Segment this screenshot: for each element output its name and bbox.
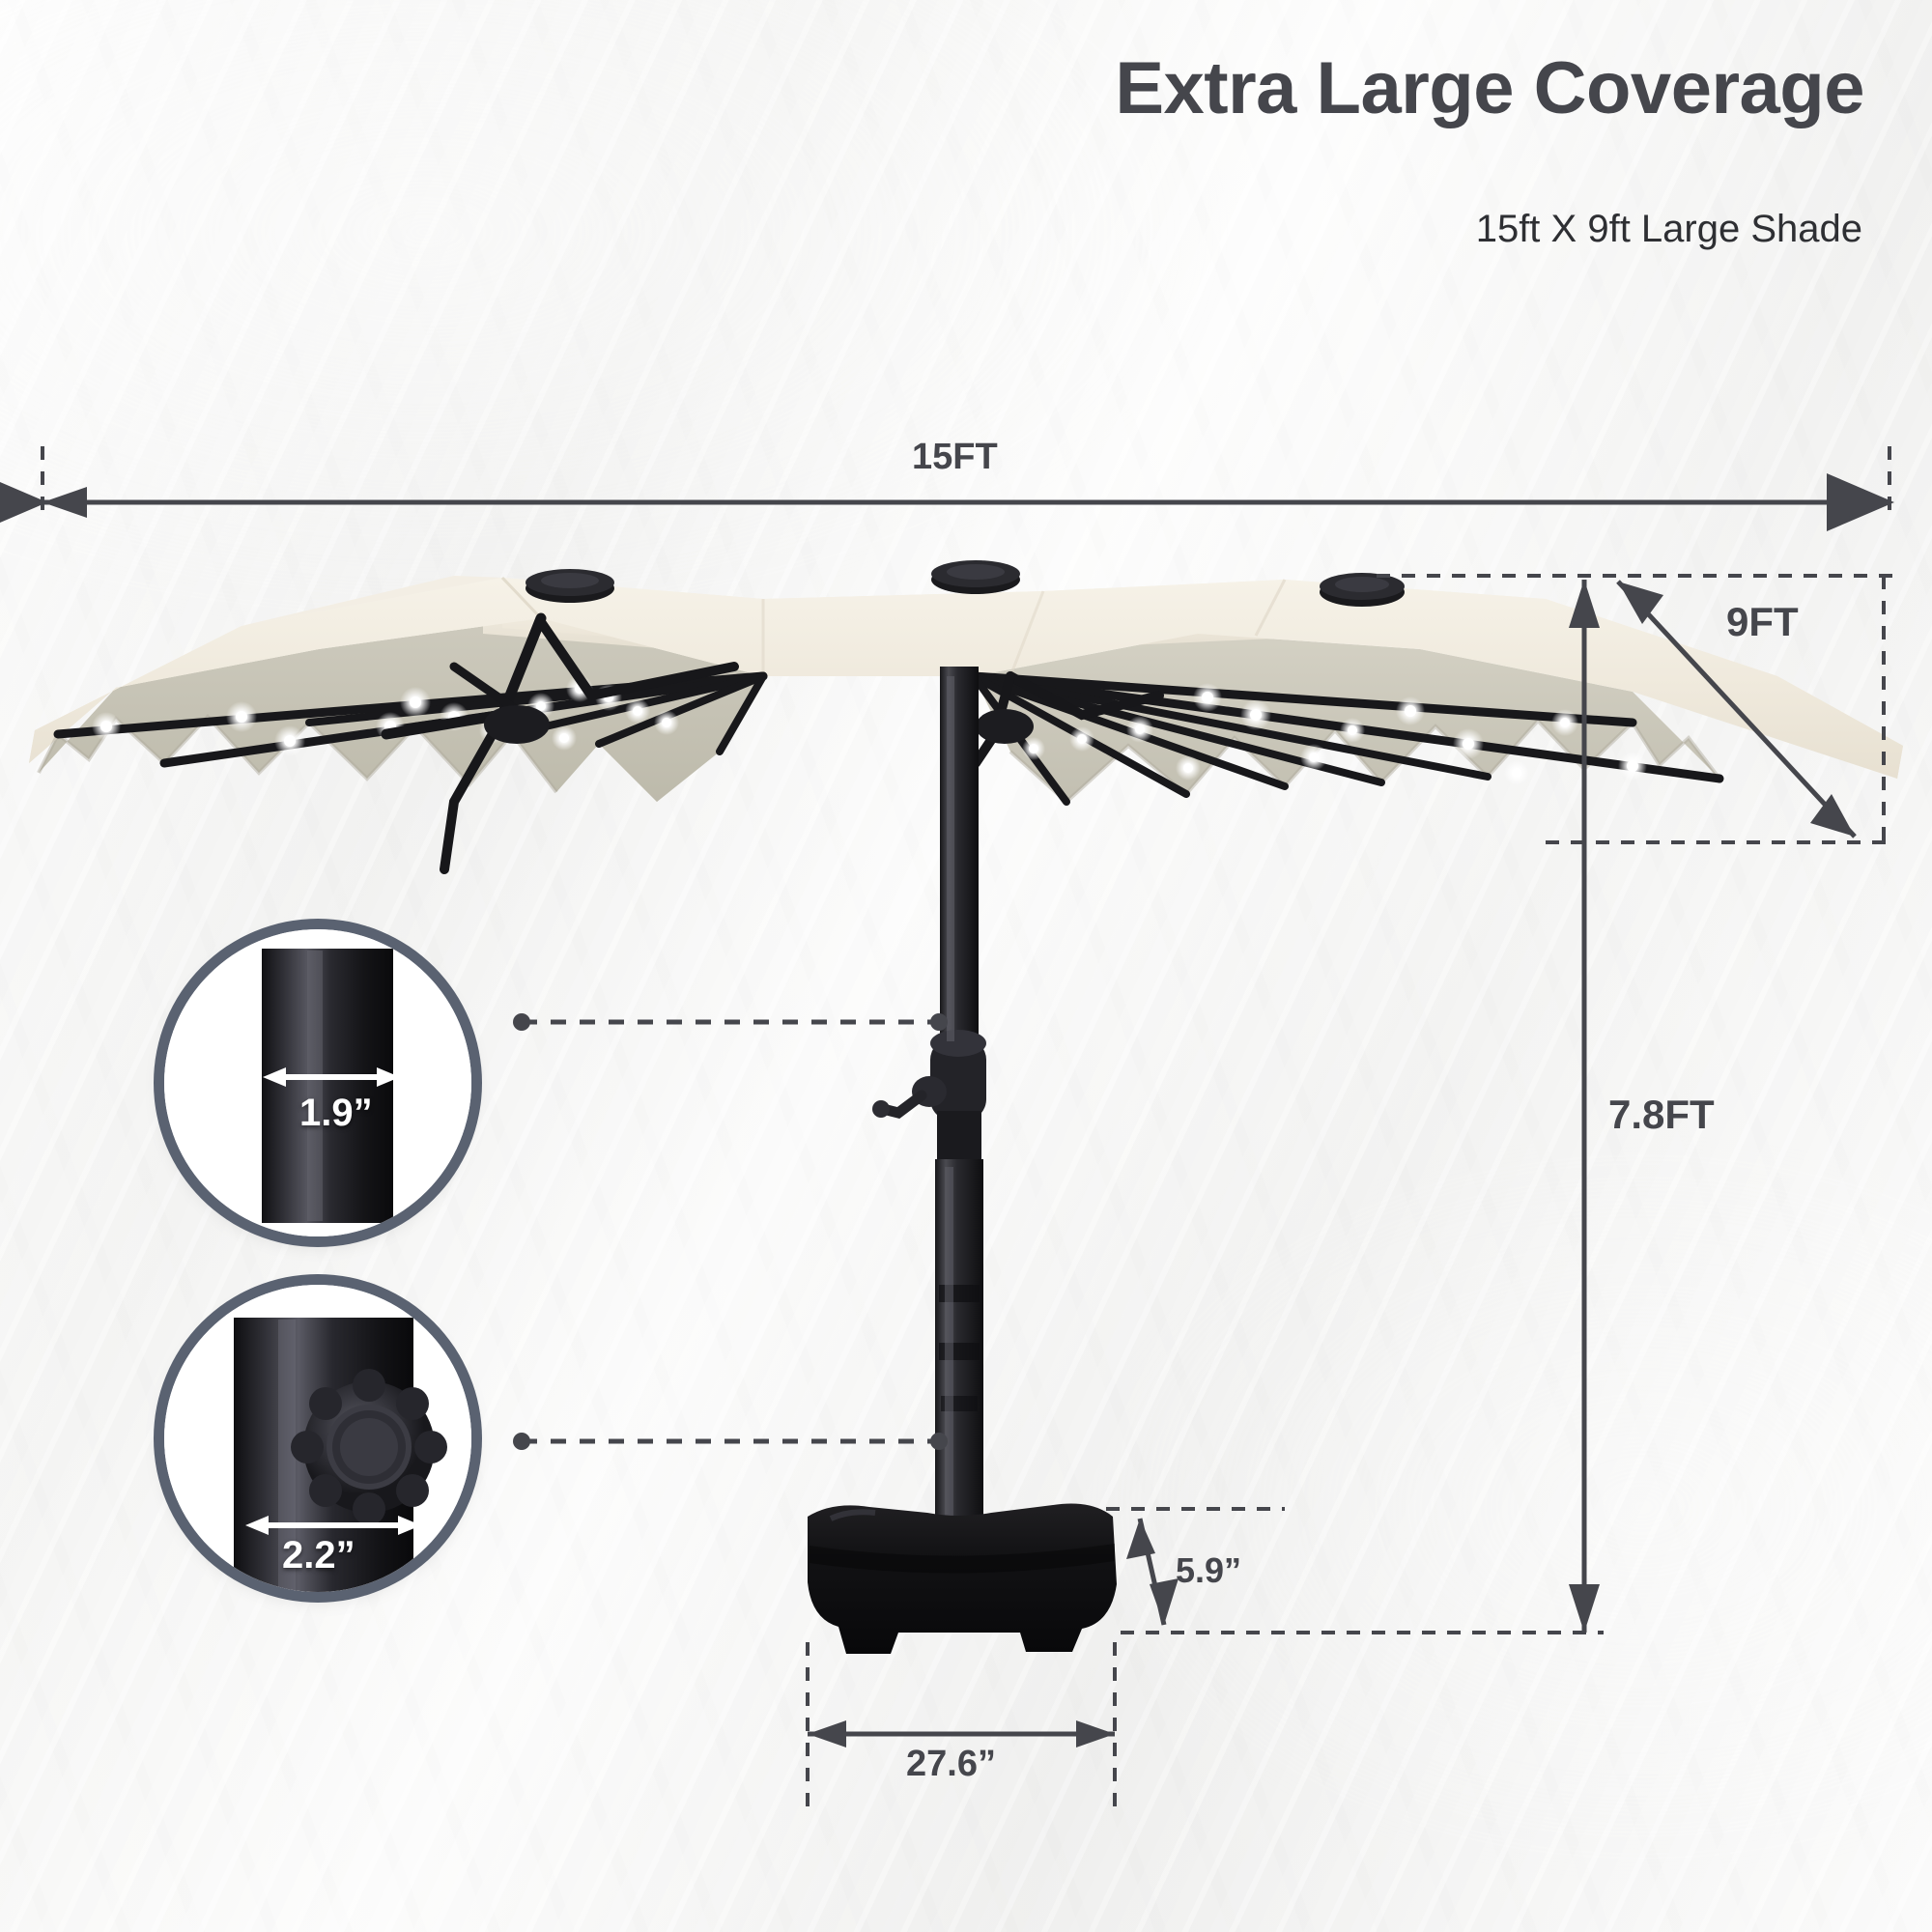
callout-pole-label: 1.9” [299, 1092, 373, 1135]
infographic-canvas: Extra Large Coverage 15ft X 9ft Large Sh… [0, 0, 1932, 1932]
dimension-label-base-width: 27.6” [906, 1744, 996, 1785]
callout-pole-diameter: 1.9” [164, 929, 471, 1236]
dimension-label-height: 7.8FT [1608, 1092, 1715, 1138]
tightening-knob-icon [291, 1369, 447, 1525]
callout-lower-pole-diameter: 2.2” [164, 1285, 471, 1592]
dimension-base-width-276 [808, 1642, 1115, 1816]
callout-pole-measure-arrow [261, 1061, 402, 1094]
callout-leader-lines [513, 1013, 948, 1450]
dimension-label-width: 15FT [912, 437, 998, 478]
dimension-label-depth: 9FT [1726, 599, 1799, 645]
callout-knob-label: 2.2” [282, 1534, 355, 1577]
dimension-height-78ft [1121, 966, 1604, 1633]
dimension-depth-9ft [1377, 576, 1893, 966]
dimension-label-base-height: 5.9” [1176, 1550, 1241, 1591]
